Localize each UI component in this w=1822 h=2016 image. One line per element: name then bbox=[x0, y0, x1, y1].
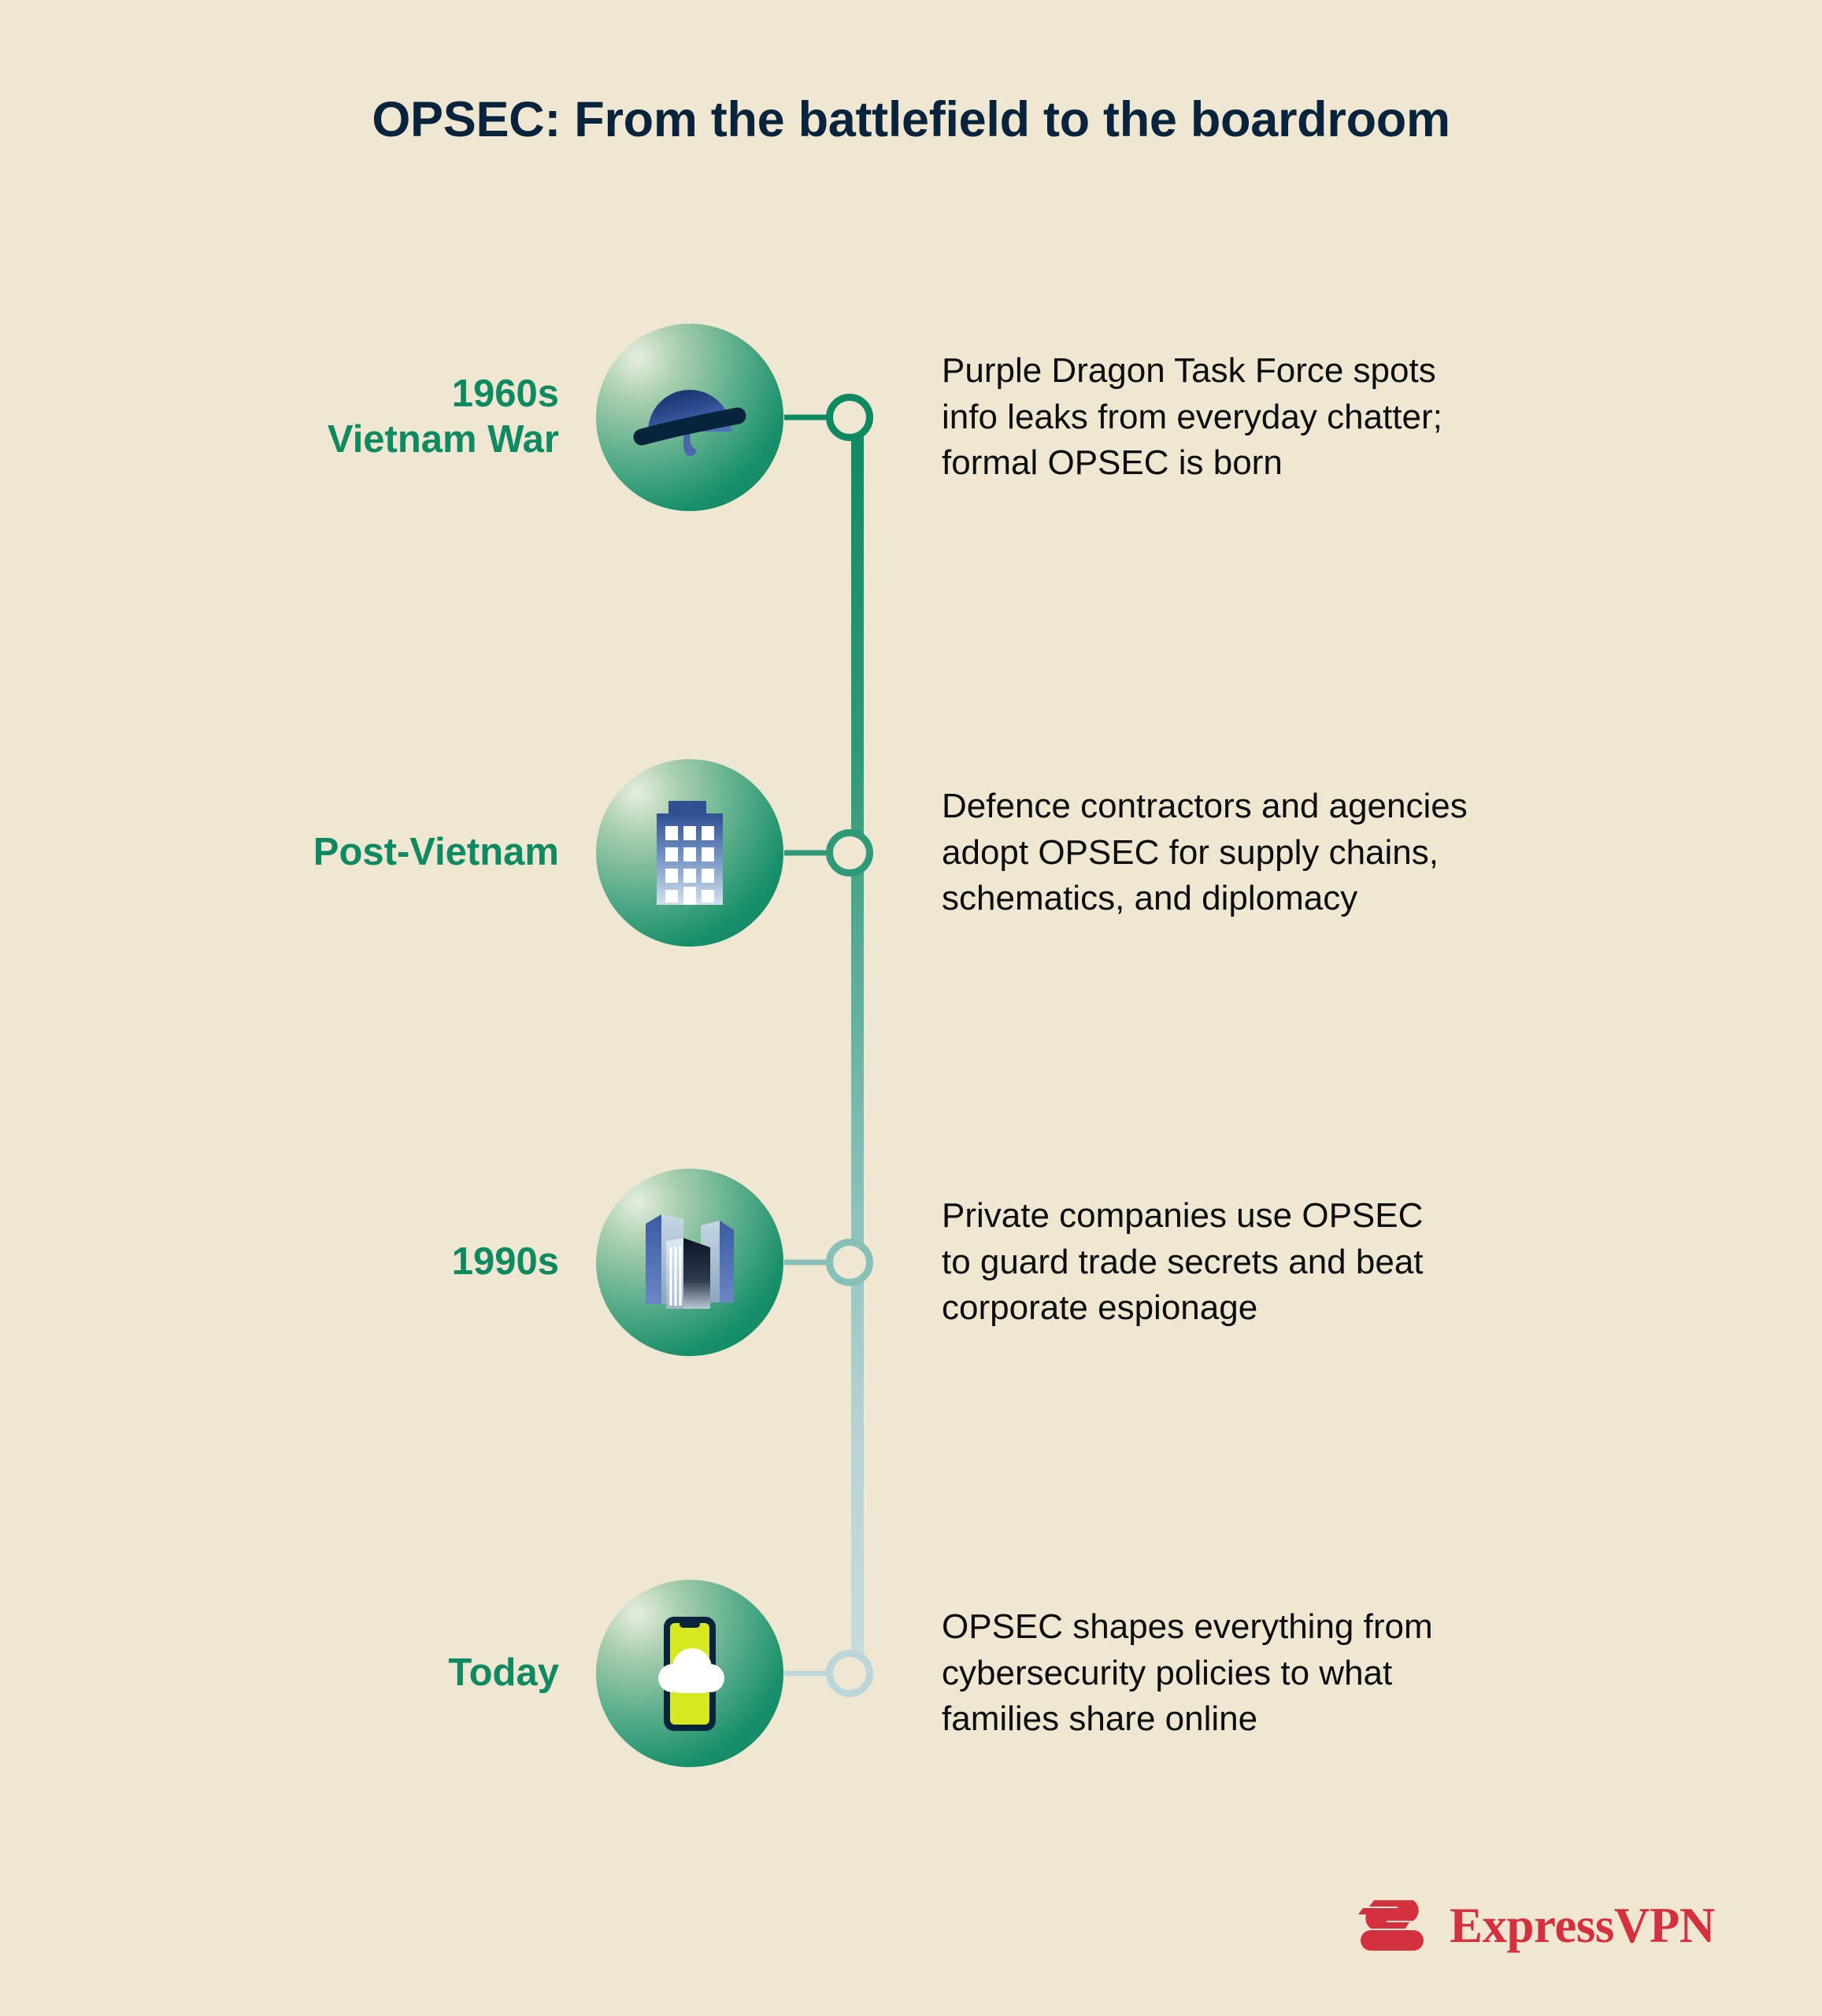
skyscrapers-icon bbox=[635, 1203, 745, 1321]
era-label: 1990s bbox=[189, 1240, 559, 1285]
icon-badge bbox=[596, 1169, 783, 1356]
expressvpn-brand: ExpressVPN bbox=[1357, 1882, 1687, 1969]
timeline: 1960s Vietnam War bbox=[0, 0, 1822, 2016]
office-building-icon bbox=[643, 798, 737, 908]
era-label: 1960s Vietnam War bbox=[189, 372, 559, 463]
brand-name: ExpressVPN bbox=[1450, 1901, 1715, 1951]
timeline-item-1990s: 1990s bbox=[0, 1144, 1822, 1380]
timeline-spine bbox=[851, 417, 864, 1666]
timeline-item-today: Today OPSEC shapes everything from bbox=[0, 1555, 1822, 1792]
military-helmet-icon bbox=[631, 358, 749, 476]
timeline-item-1960s: 1960s Vietnam War bbox=[0, 299, 1822, 535]
timeline-node bbox=[826, 829, 873, 876]
icon-badge bbox=[596, 1580, 783, 1767]
item-description: OPSEC shapes everything from cybersecuri… bbox=[942, 1604, 1650, 1743]
timeline-node bbox=[826, 1239, 873, 1286]
timeline-node bbox=[826, 1650, 873, 1697]
item-description: Purple Dragon Task Force spots info leak… bbox=[942, 348, 1650, 487]
icon-badge bbox=[596, 324, 783, 511]
smartphone-cloud-icon bbox=[639, 1613, 741, 1735]
era-label: Post-Vietnam bbox=[189, 830, 559, 876]
era-label: Today bbox=[189, 1651, 559, 1696]
timeline-item-post-vietnam: Post-Vietnam bbox=[0, 735, 1822, 971]
item-description: Defence contractors and agencies adopt O… bbox=[942, 784, 1650, 922]
timeline-node bbox=[826, 394, 873, 441]
icon-badge bbox=[596, 759, 783, 947]
expressvpn-logo-icon bbox=[1357, 1897, 1432, 1954]
item-description: Private companies use OPSEC to guard tra… bbox=[942, 1193, 1650, 1332]
